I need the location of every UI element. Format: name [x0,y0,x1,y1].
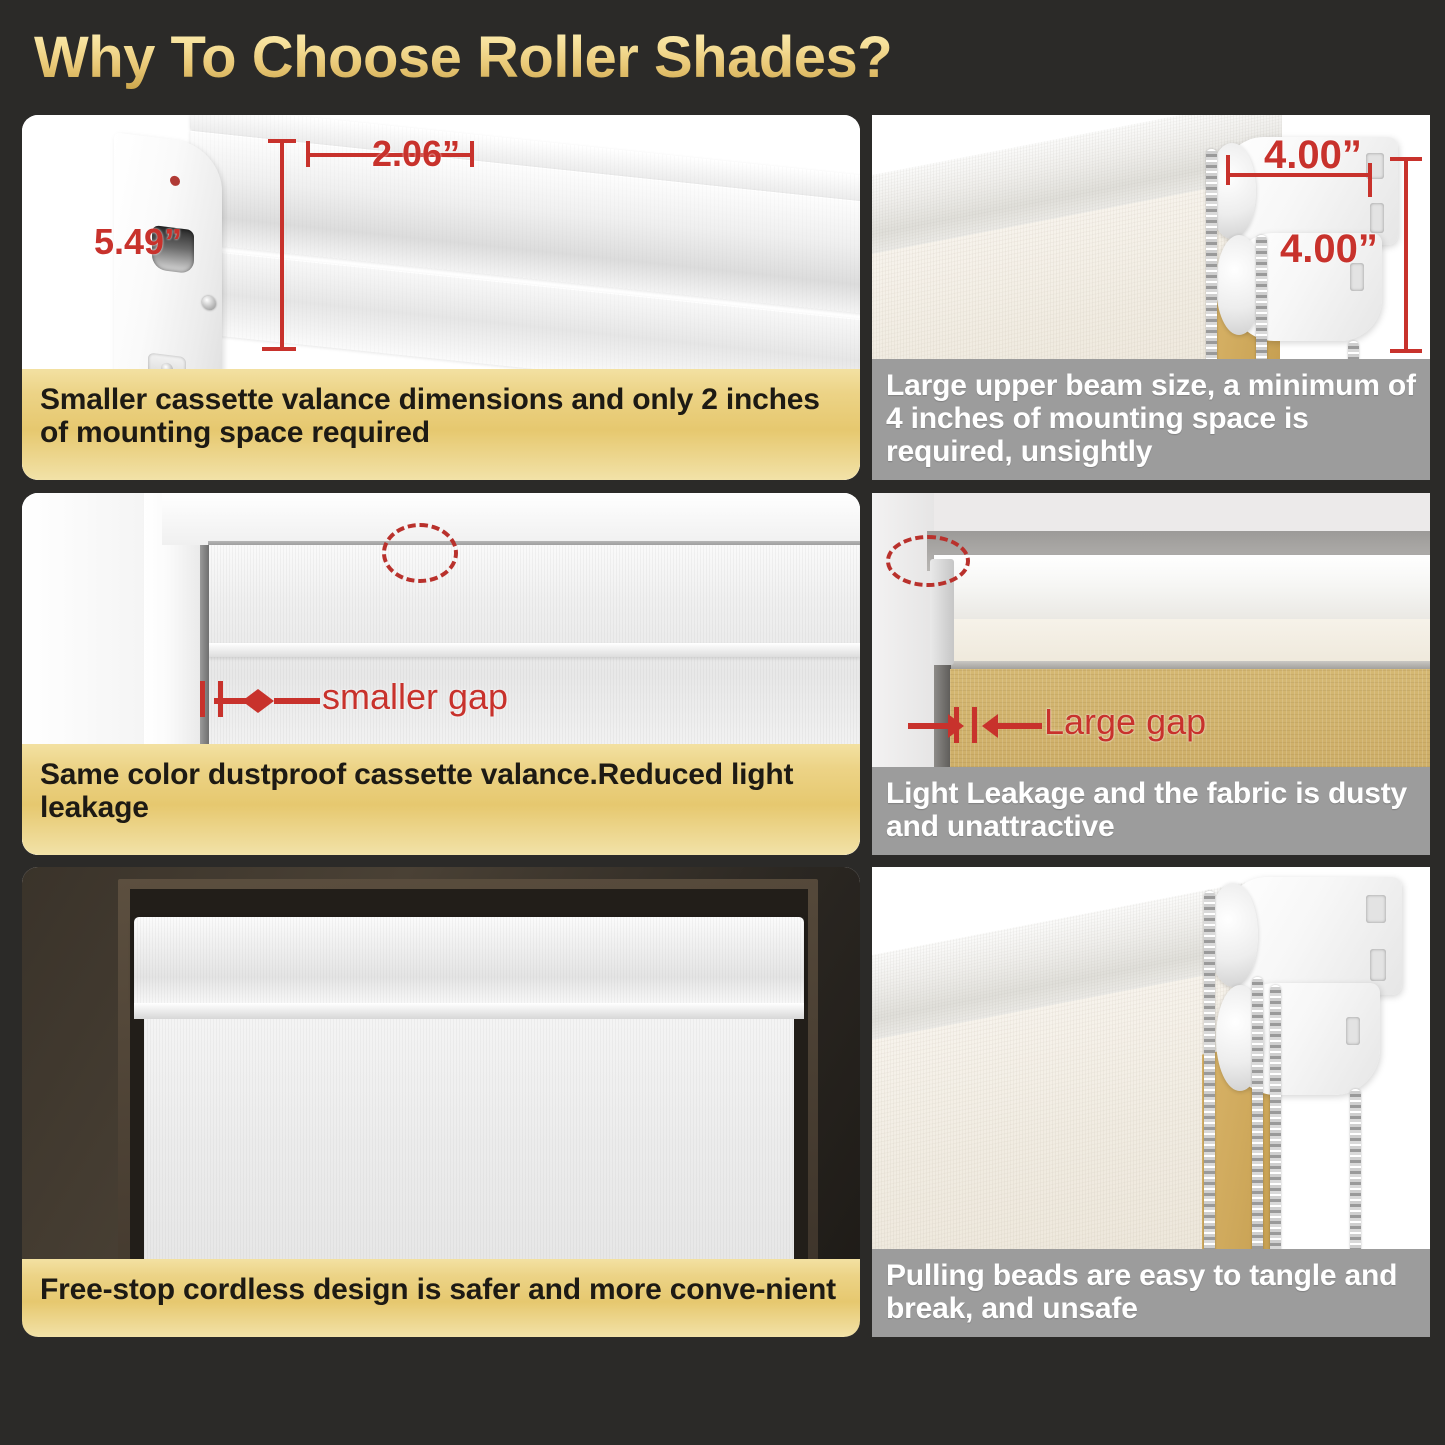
beam-height-dim-line [1404,157,1408,353]
beam-height-tick-top [1390,157,1422,161]
height-dim-tick-bottom [262,347,296,351]
panel-2-caption: Large upper beam size, a minimum of 4 in… [872,359,1430,480]
large-gap-label: Large gap [1044,701,1206,743]
gap-tick-left [200,681,205,717]
gap-tick-left [954,707,959,743]
width-dimension-label: 2.06” [372,133,460,175]
gap-arrow-right-head [242,689,258,713]
comparison-grid: 2.06” 5.49” Smaller cassette valance dim… [0,110,1445,1445]
gap-tick-right [972,707,977,743]
panel-pulling-beads: Pulling beads are easy to tangle and bre… [872,867,1430,1337]
height-dim-tick-top [268,139,296,143]
gap-highlight-circle [382,523,458,583]
valance-rail [208,643,860,657]
width-dim-tick-left [306,141,310,167]
page-title: Why To Choose Roller Shades? [34,24,892,91]
beam-width-label: 4.00” [1264,133,1362,178]
height-dim-line [280,139,284,351]
panel-light-leakage: Large gap Light Leakage and the fabric i… [872,493,1430,855]
panel-1-caption: Smaller cassette valance dimensions and … [22,369,860,480]
panel-3-caption: Same color dustproof cassette valance.Re… [22,744,860,855]
panel-dustproof-valance: smaller gap Same color dustproof cassett… [22,493,860,855]
smaller-gap-label: smaller gap [322,676,508,718]
cassette-lip [134,1003,804,1019]
gap-arrow-right-head [982,714,998,738]
panel-large-upper-beam: 4.00” 4.00” Large upper beam size, a min… [872,115,1430,480]
gap-arrow-right-shaft [998,723,1042,729]
beam-height-label: 4.00” [1280,227,1378,272]
gap-arrow-left-shaft [908,723,950,729]
end-cap-red-dot [170,175,180,186]
beam-height-tick-bottom [1390,349,1422,353]
white-valance [934,555,1430,623]
roller-wheel-top [1208,883,1258,987]
gap-arrow-left-head [258,689,274,713]
panel-smaller-cassette: 2.06” 5.49” Smaller cassette valance dim… [22,115,860,480]
panel-4-caption: Light Leakage and the fabric is dusty an… [872,767,1430,855]
end-cap-screw [202,295,216,311]
gap-tick-right [218,681,223,717]
beam-width-tick-left [1226,155,1230,185]
panel-5-caption: Free-stop cordless design is safer and m… [22,1259,860,1337]
height-dimension-label: 5.49” [94,221,182,263]
cassette-head [134,917,804,1003]
panel-cordless-design: FREE-STOP Free-stop cordless design is s… [22,867,860,1337]
beam-width-tick-right [1368,163,1372,197]
gap-arrow-right-shaft [274,698,320,704]
gap-highlight-circle [886,535,970,587]
panel-6-caption: Pulling beads are easy to tangle and bre… [872,1249,1430,1337]
width-dim-tick-right [470,141,474,167]
